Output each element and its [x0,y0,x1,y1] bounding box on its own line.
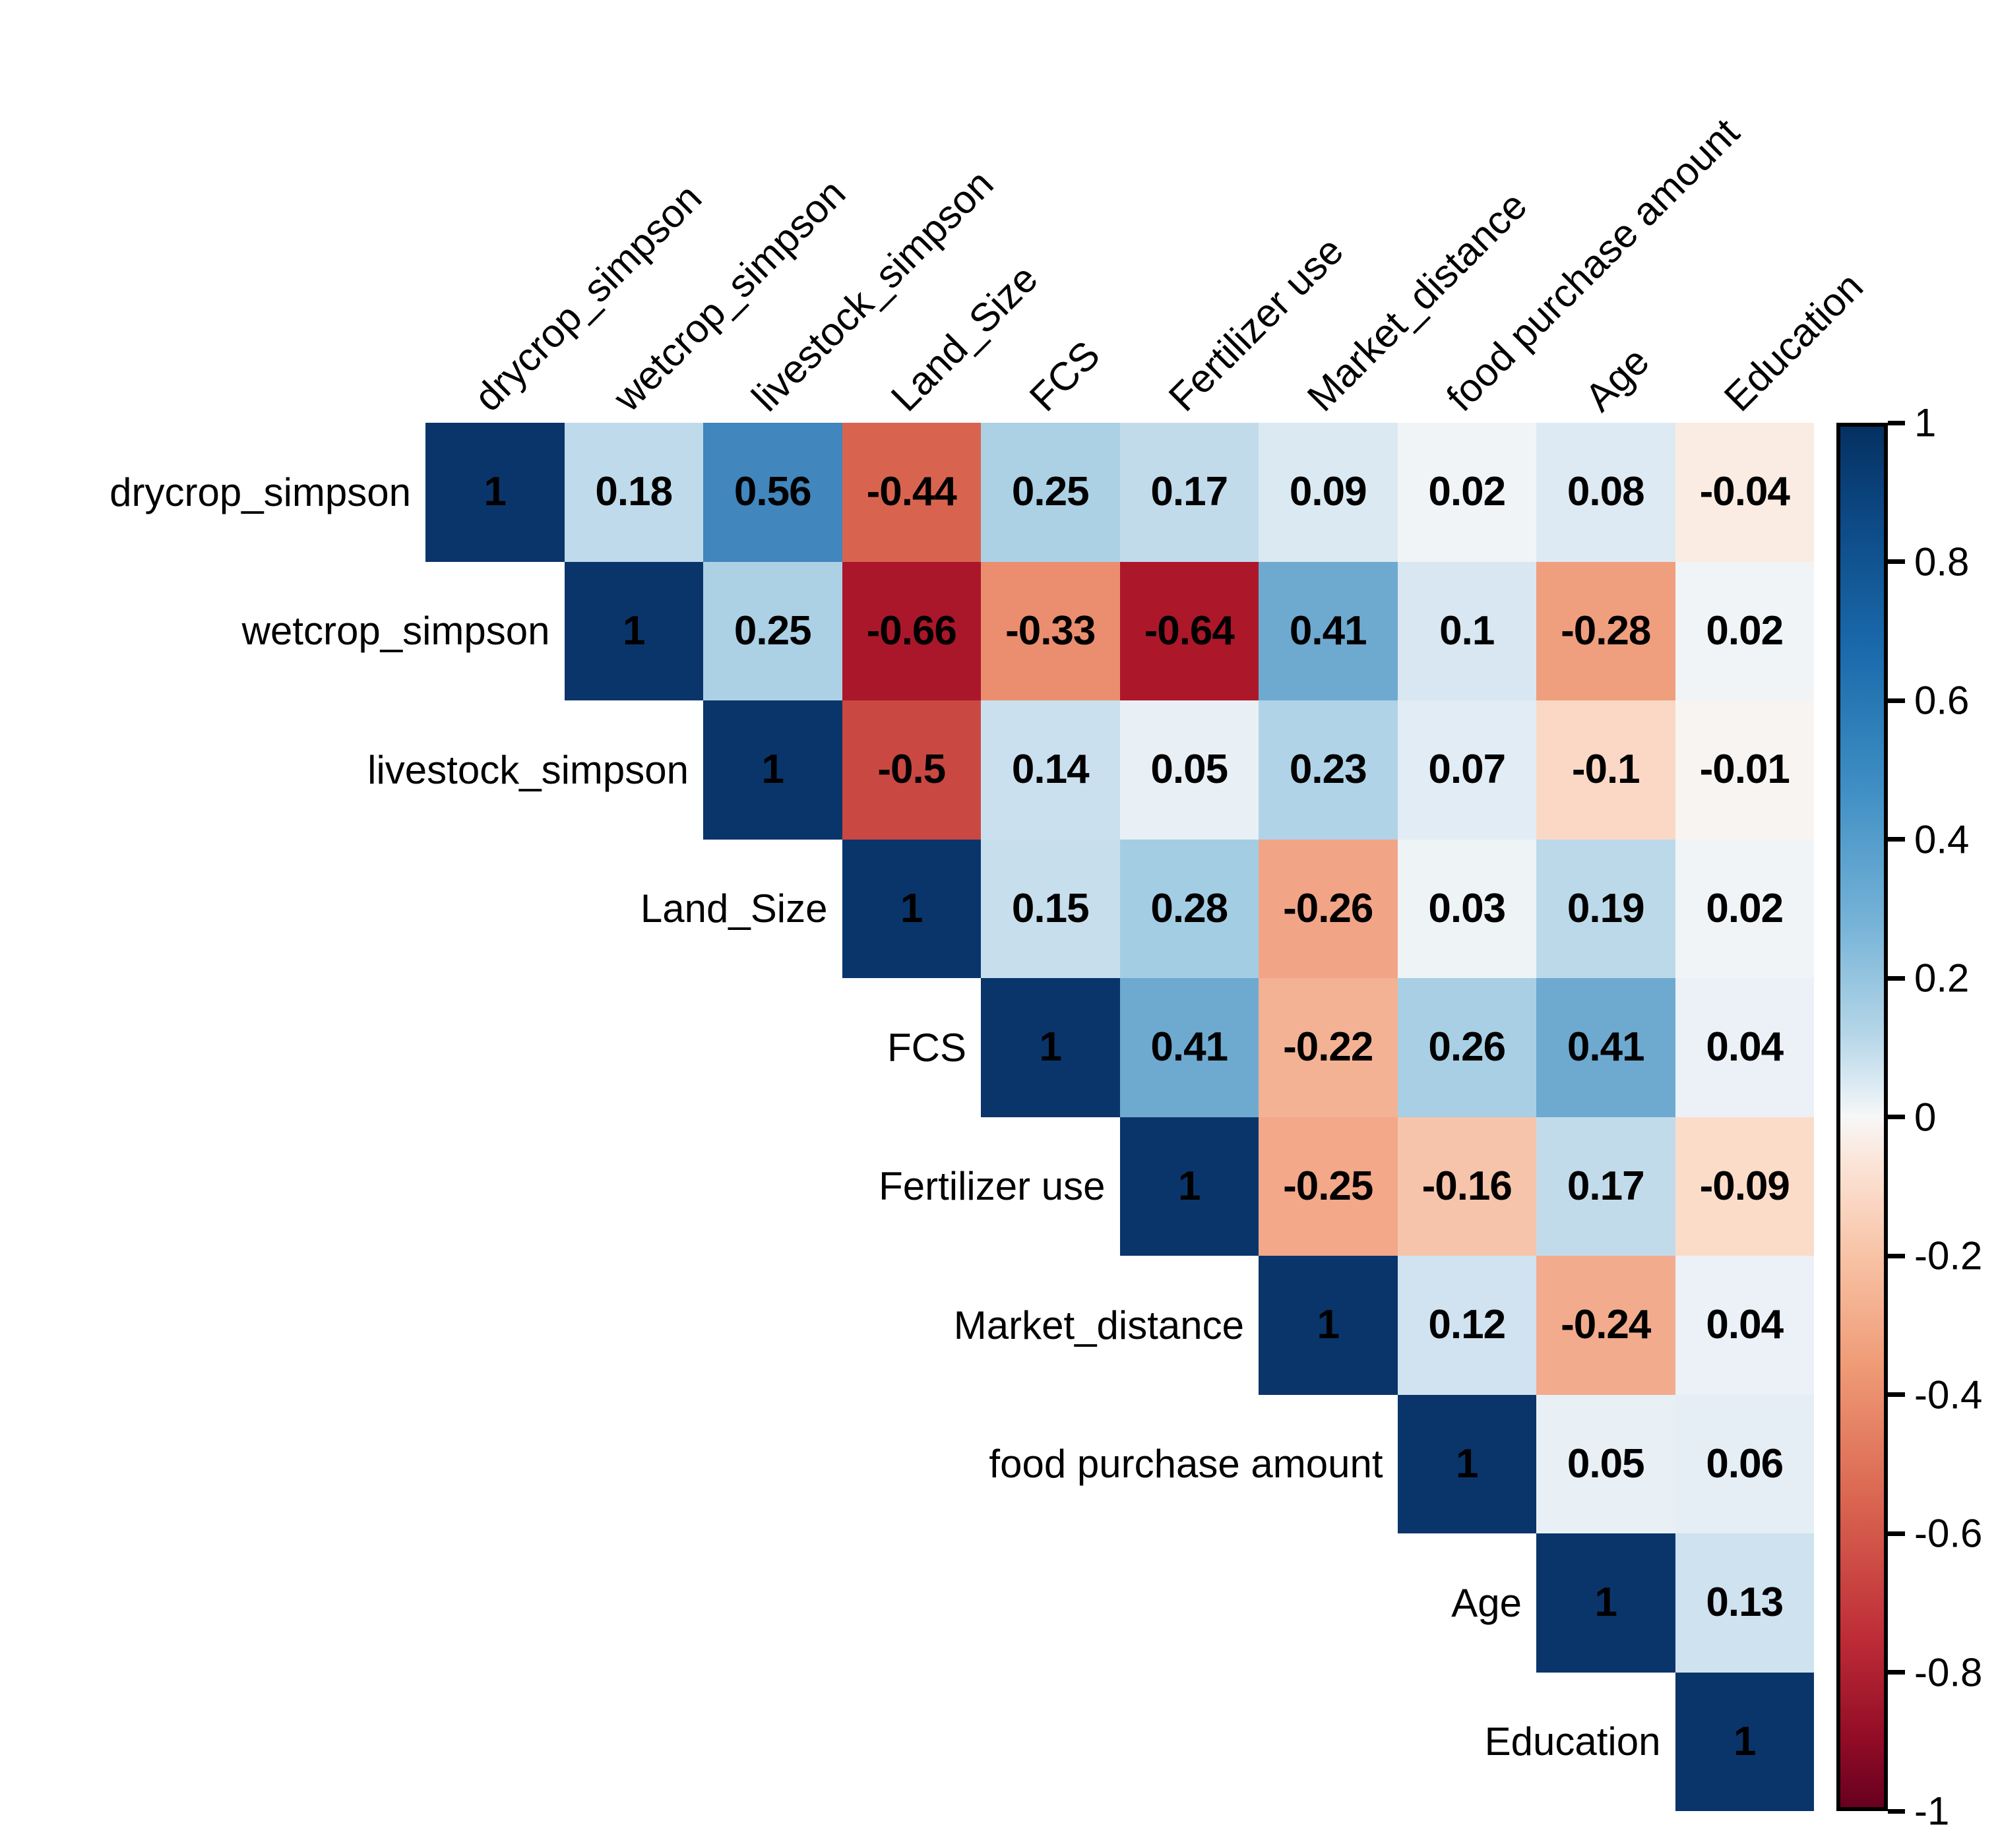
heatmap-cell: 1 [1536,1533,1675,1673]
correlation-heatmap-figure: drycrop_simpsonwetcrop_simpsonlivestock_… [0,0,1998,1848]
colorbar-tick-label: -0.2 [1914,1233,1982,1279]
heatmap-cell: 0.06 [1675,1395,1815,1534]
cell-value: -0.24 [1561,1305,1650,1345]
cell-value: 0.17 [1567,1166,1644,1207]
cell-value: -0.09 [1700,1166,1790,1207]
colorbar-tick [1888,1670,1905,1675]
cell-value: -0.25 [1283,1166,1373,1207]
heatmap-cell: 0.13 [1675,1533,1815,1673]
heatmap-cell: 0.25 [703,562,842,701]
cell-value: 0.05 [1150,749,1228,790]
heatmap-cell: 0.04 [1675,978,1815,1117]
cell-value: 0.12 [1428,1305,1505,1345]
heatmap-cell: 0.17 [1120,423,1259,562]
cell-value: 1 [762,749,784,790]
heatmap-cell: 1 [981,978,1120,1117]
cell-value: 1 [623,611,644,652]
column-label: Age [1577,338,1658,420]
heatmap-grid: 10.180.56-0.440.250.170.090.020.08-0.041… [425,423,1814,1811]
heatmap-cell: 0.02 [1398,423,1537,562]
cell-value: -0.22 [1283,1027,1373,1068]
cell-value: 0.56 [734,472,811,512]
cell-value: 1 [484,472,506,512]
cell-value: 0.23 [1290,749,1367,790]
cell-value: 0.1 [1439,611,1494,652]
heatmap-cell: 0.23 [1259,700,1398,840]
column-labels: drycrop_simpsonwetcrop_simpsonlivestock_… [0,0,1998,423]
heatmap-cell: 0.05 [1120,700,1259,840]
cell-value: 0.06 [1706,1444,1783,1485]
heatmap-cell: 0.1 [1398,562,1537,701]
heatmap-cell: 1 [842,840,982,979]
colorbar-tick [1888,421,1905,425]
heatmap-cell: 0.17 [1536,1117,1675,1256]
column-label: FCS [1021,332,1109,420]
cell-value: 0.14 [1012,749,1089,790]
heatmap-cell: 0.56 [703,423,842,562]
colorbar-gradient [1836,423,1888,1811]
colorbar-tick-label: 0 [1914,1094,1936,1140]
heatmap-cell: 0.02 [1675,840,1815,979]
cell-value: 0.15 [1012,888,1089,929]
heatmap-cell: 0.02 [1675,562,1815,701]
heatmap-cell: 0.07 [1398,700,1537,840]
heatmap-cell: 1 [1675,1673,1815,1812]
heatmap-cell: 0.18 [565,423,704,562]
heatmap-cell: 0.19 [1536,840,1675,979]
column-label: wetcrop_simpson [604,170,854,420]
heatmap-cell: -0.26 [1259,840,1398,979]
colorbar-tick [1888,559,1905,564]
cell-value: 0.02 [1706,611,1783,652]
cell-value: 0.25 [734,611,811,652]
colorbar: 10.80.60.40.20-0.2-0.4-0.6-0.8-1 [1836,423,1889,1811]
colorbar-tick-label: 0.2 [1914,956,1969,1001]
cell-value: 0.02 [1428,472,1505,512]
row-label: drycrop_simpson [109,423,411,562]
colorbar-tick [1888,837,1905,842]
cell-value: 0.18 [595,472,672,512]
cell-value: -0.1 [1572,749,1640,790]
heatmap-cell: 0.28 [1120,840,1259,979]
heatmap-cell: 1 [703,700,842,840]
colorbar-tick [1888,1809,1905,1814]
colorbar-tick-label: 0.6 [1914,678,1969,724]
heatmap-cell: 0.04 [1675,1256,1815,1395]
heatmap-cell: -0.04 [1675,423,1815,562]
cell-value: 1 [1317,1305,1339,1345]
heatmap-cell: 1 [1120,1117,1259,1256]
cell-value: -0.28 [1561,611,1650,652]
heatmap-cell: 0.41 [1536,978,1675,1117]
cell-value: 0.09 [1290,472,1367,512]
column-label: Education [1715,264,1871,420]
cell-value: 0.02 [1706,888,1783,929]
heatmap-cell: 0.14 [981,700,1120,840]
cell-value: 1 [900,888,922,929]
cell-value: 0.41 [1290,611,1367,652]
heatmap-cell: -0.16 [1398,1117,1537,1256]
column-label: livestock_simpson [743,161,1003,420]
colorbar-tick-label: -0.4 [1914,1372,1982,1417]
colorbar-tick [1888,1392,1905,1397]
heatmap-cell: 0.25 [981,423,1120,562]
cell-value: 0.26 [1428,1027,1505,1068]
cell-value: 0.07 [1428,749,1505,790]
colorbar-tick [1888,1531,1905,1536]
heatmap-cell: -0.01 [1675,700,1815,840]
colorbar-tick-label: 1 [1914,400,1936,446]
colorbar-tick-label: 0.8 [1914,539,1969,584]
cell-value: 0.05 [1567,1444,1644,1485]
cell-value: 1 [1595,1582,1617,1623]
heatmap-cell: 1 [1259,1256,1398,1395]
heatmap-cell: -0.28 [1536,562,1675,701]
cell-value: 0.25 [1012,472,1089,512]
heatmap-cell: 1 [565,562,704,701]
colorbar-tick [1888,1254,1905,1258]
heatmap-cell: -0.24 [1536,1256,1675,1395]
cell-value: 0.17 [1150,472,1228,512]
cell-value: 0.04 [1706,1027,1783,1068]
heatmap-cell: -0.25 [1259,1117,1398,1256]
colorbar-tick-label: -1 [1914,1789,1949,1834]
heatmap-cell: 0.41 [1259,562,1398,701]
heatmap-cell: 1 [1398,1395,1537,1534]
cell-value: -0.01 [1700,749,1790,790]
cell-value: -0.64 [1144,611,1234,652]
colorbar-tick-label: 0.4 [1914,816,1969,862]
cell-value: -0.33 [1005,611,1095,652]
cell-value: 1 [1178,1166,1200,1207]
cell-value: -0.5 [877,749,945,790]
heatmap-cell: -0.09 [1675,1117,1815,1256]
heatmap-cell: -0.33 [981,562,1120,701]
cell-value: 0.04 [1706,1305,1783,1345]
colorbar-tick-label: -0.6 [1914,1511,1982,1556]
cell-value: 0.08 [1567,472,1644,512]
column-label: drycrop_simpson [466,175,711,420]
heatmap-cell: 0.09 [1259,423,1398,562]
cell-value: 0.19 [1567,888,1644,929]
cell-value: -0.04 [1700,472,1790,512]
cell-value: 1 [1733,1721,1755,1762]
heatmap-cell: -0.66 [842,562,982,701]
cell-value: 0.28 [1150,888,1228,929]
heatmap-cell: 0.05 [1536,1395,1675,1534]
cell-value: 0.41 [1567,1027,1644,1068]
heatmap-cell: 0.08 [1536,423,1675,562]
heatmap-cell: 0.26 [1398,978,1537,1117]
cell-value: 1 [1040,1027,1061,1068]
heatmap-cell: 0.12 [1398,1256,1537,1395]
heatmap-cell: 1 [425,423,565,562]
heatmap-cell: -0.64 [1120,562,1259,701]
colorbar-tick [1888,698,1905,703]
heatmap-cell: 0.15 [981,840,1120,979]
colorbar-tick [1888,1115,1905,1119]
heatmap-cell: -0.5 [842,700,982,840]
heatmap-cell: 0.41 [1120,978,1259,1117]
heatmap-cell: 0.03 [1398,840,1537,979]
cell-value: -0.26 [1283,888,1373,929]
cell-value: 0.13 [1706,1582,1783,1623]
cell-value: 0.41 [1150,1027,1228,1068]
heatmap-cell: -0.22 [1259,978,1398,1117]
heatmap-cell: -0.1 [1536,700,1675,840]
cell-value: -0.16 [1422,1166,1512,1207]
cell-value: -0.44 [867,472,956,512]
colorbar-tick-label: -0.8 [1914,1649,1982,1695]
heatmap-cell: -0.44 [842,423,982,562]
cell-value: 0.03 [1428,888,1505,929]
cell-value: 1 [1456,1444,1478,1485]
colorbar-tick [1888,976,1905,981]
cell-value: -0.66 [867,611,956,652]
